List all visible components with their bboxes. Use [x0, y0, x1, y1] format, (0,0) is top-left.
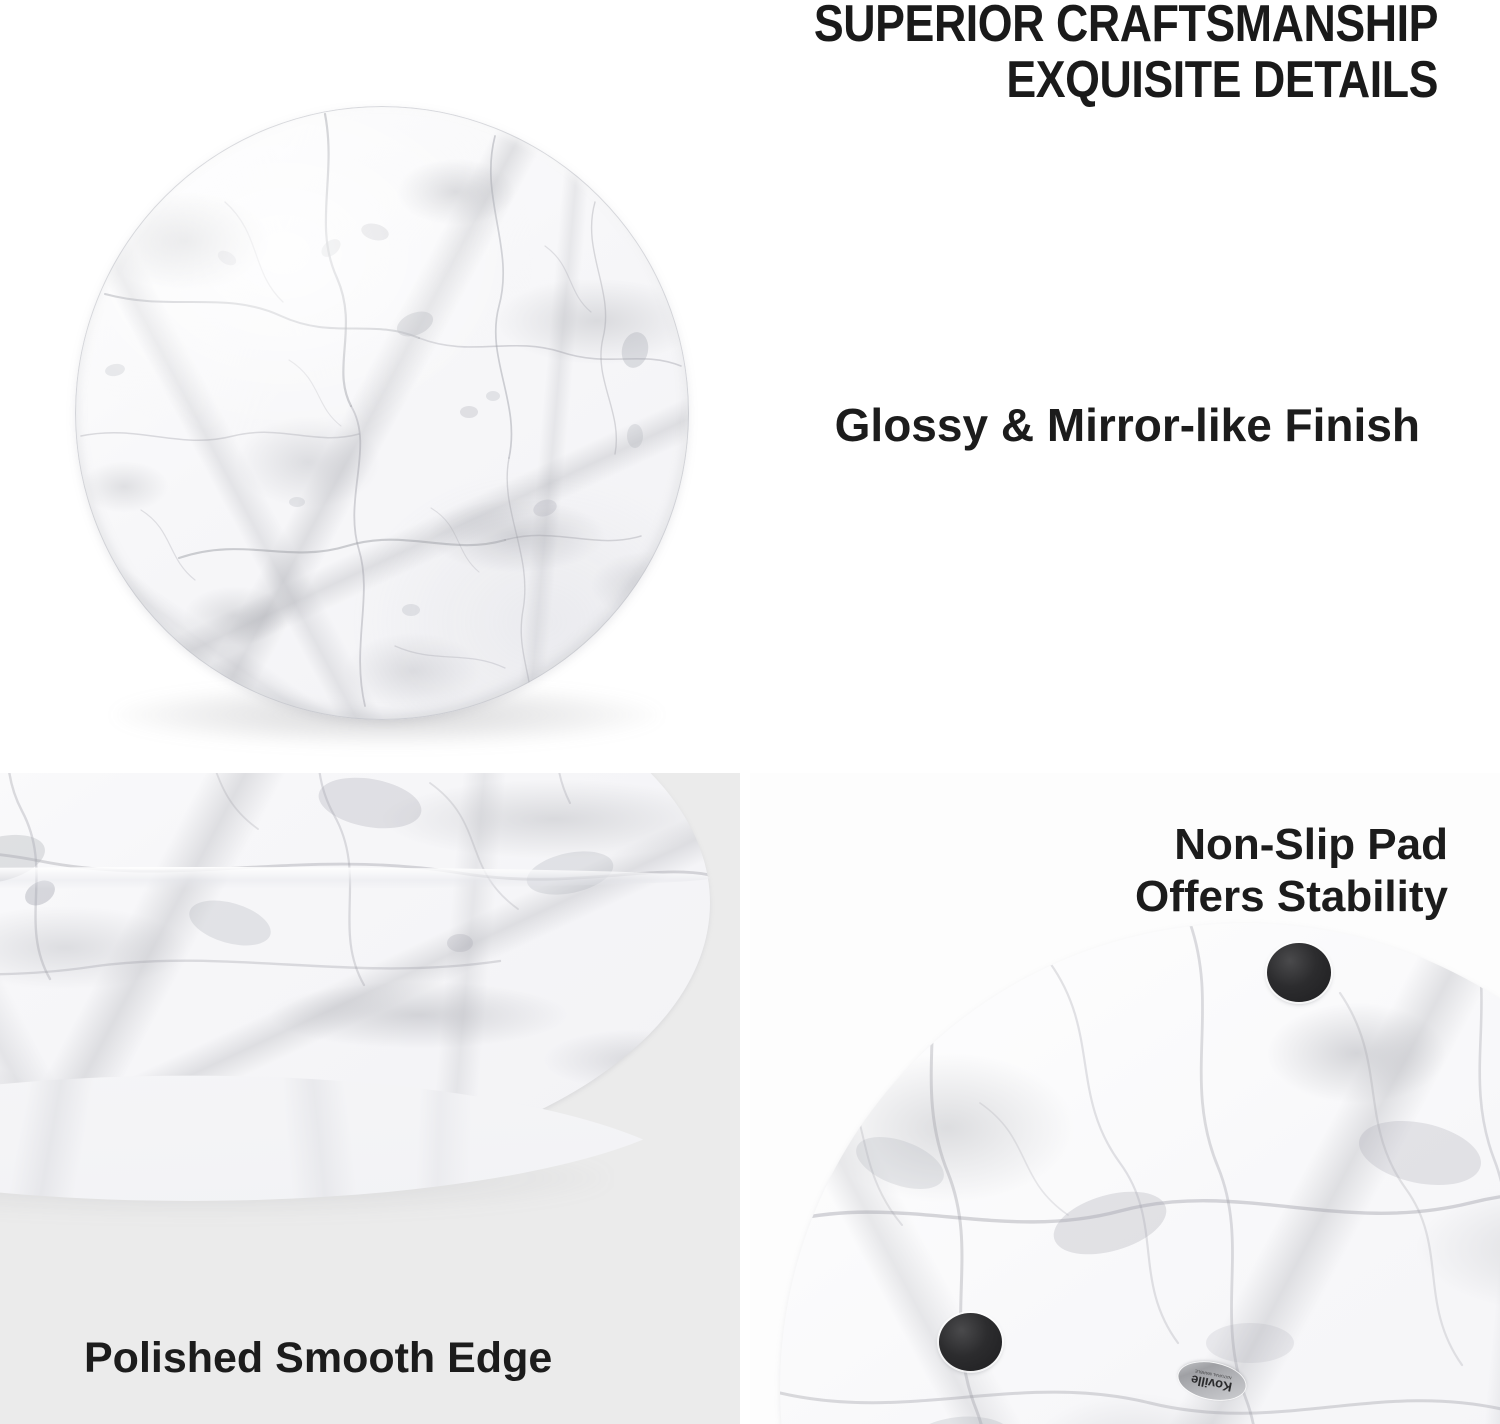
- non-slip-pad: [1267, 943, 1331, 1002]
- header-line-1: SUPERIOR CRAFTSMANSHIP: [664, 0, 1438, 52]
- non-slip-pad: [939, 1313, 1002, 1371]
- feature-label-non-slip-line-2: Offers Stability: [888, 871, 1448, 923]
- feature-label-polished-edge: Polished Smooth Edge: [84, 1333, 704, 1384]
- non-slip-pad-panel: Koville NATURAL MARBLE Non-Slip Pad Offe…: [750, 773, 1500, 1424]
- glossy-finish-panel: SUPERIOR CRAFTSMANSHIP EXQUISITE DETAILS: [0, 0, 1500, 772]
- feature-label-non-slip-line-1: Non-Slip Pad: [888, 819, 1448, 871]
- polished-edge-panel: Polished Smooth Edge: [0, 773, 740, 1424]
- header-line-2: EXQUISITE DETAILS: [664, 52, 1438, 108]
- marble-vein-pattern-underside: [780, 923, 1500, 1424]
- feature-label-glossy-finish: Glossy & Mirror-like Finish: [780, 398, 1420, 452]
- marble-disc-underside: Koville NATURAL MARBLE: [780, 923, 1500, 1424]
- disc-rim: [75, 106, 689, 720]
- marble-edge-closeup: [0, 773, 710, 1243]
- feature-label-non-slip-pad: Non-Slip Pad Offers Stability: [888, 819, 1448, 923]
- product-infographic: SUPERIOR CRAFTSMANSHIP EXQUISITE DETAILS: [0, 0, 1500, 1424]
- page-title: SUPERIOR CRAFTSMANSHIP EXQUISITE DETAILS: [538, 0, 1438, 108]
- marble-disc: [75, 106, 689, 720]
- marble-disc-top-view: [75, 106, 689, 720]
